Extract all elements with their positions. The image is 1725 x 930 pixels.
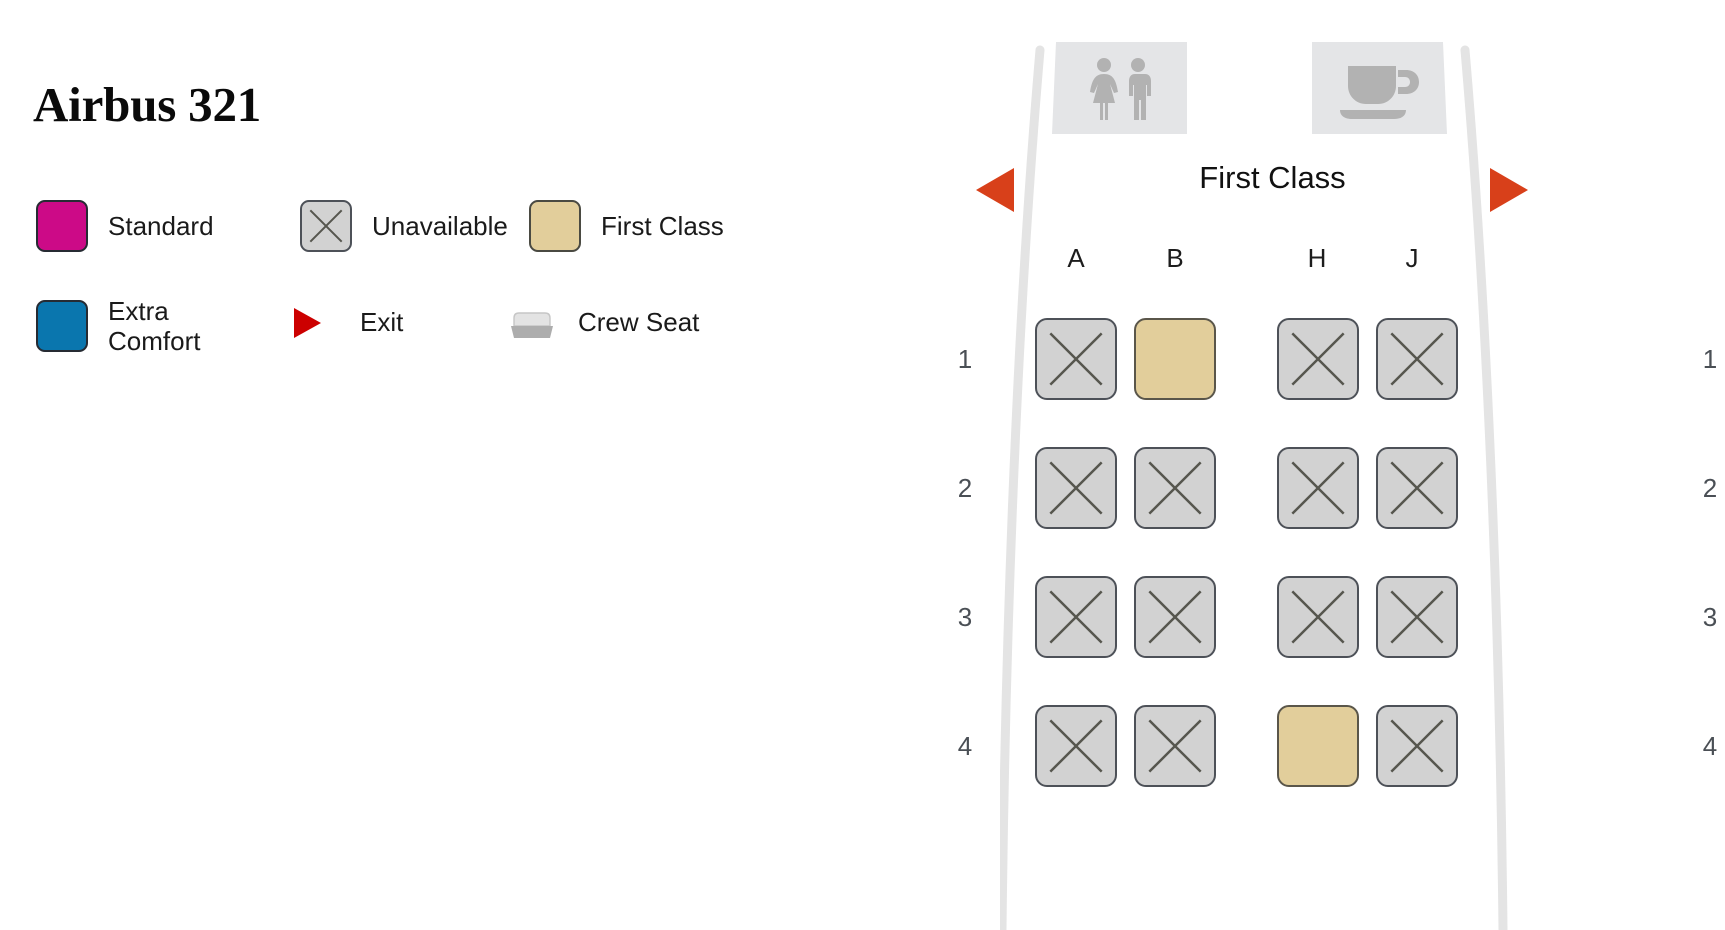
column-letter-b: B xyxy=(1155,243,1195,274)
seat-2H xyxy=(1277,447,1359,529)
row-number-right-3: 3 xyxy=(1690,602,1725,633)
x-cross-icon xyxy=(1378,449,1456,527)
column-letter-j: J xyxy=(1392,243,1432,274)
row-number-left-3: 3 xyxy=(945,602,985,633)
galley-cup-icon xyxy=(1312,42,1447,134)
seat-3H xyxy=(1277,576,1359,658)
cabin-section-title: First Class xyxy=(1000,160,1545,196)
x-cross-icon xyxy=(1279,578,1357,656)
legend-label: Extra Comfort xyxy=(108,296,200,357)
legend-label: Standard xyxy=(108,211,214,241)
galley-panel xyxy=(1312,42,1447,139)
x-cross-icon xyxy=(1378,578,1456,656)
seat-2B xyxy=(1134,447,1216,529)
x-cross-icon xyxy=(1279,449,1357,527)
legend-row: Standard Unavailable First Class xyxy=(36,200,776,276)
lavatory-panel xyxy=(1052,42,1187,139)
x-cross-icon xyxy=(1279,320,1357,398)
color-swatch-blue-icon xyxy=(36,300,88,352)
legend-label: First Class xyxy=(601,211,724,241)
crew-seat-glyph xyxy=(506,296,558,348)
seat-4A xyxy=(1035,705,1117,787)
row-number-left-1: 1 xyxy=(945,344,985,375)
legend-item-unavailable: Unavailable xyxy=(300,200,508,252)
x-cross-icon xyxy=(1136,578,1214,656)
x-cross-icon xyxy=(1136,707,1214,785)
x-cross-icon xyxy=(1037,578,1115,656)
seat-1B[interactable] xyxy=(1134,318,1216,400)
x-cross-icon xyxy=(1037,449,1115,527)
seat-4B xyxy=(1134,705,1216,787)
seat-1H xyxy=(1277,318,1359,400)
row-number-right-4: 4 xyxy=(1690,731,1725,762)
legend-item-standard: Standard xyxy=(36,200,214,252)
seat-4H[interactable] xyxy=(1277,705,1359,787)
column-letter-h: H xyxy=(1297,243,1337,274)
x-cross-icon xyxy=(302,202,350,250)
x-cross-icon xyxy=(1037,707,1115,785)
unavailable-seat-icon xyxy=(300,200,352,252)
legend-item-first-class: First Class xyxy=(529,200,724,252)
x-cross-icon xyxy=(1037,320,1115,398)
legend-label: Crew Seat xyxy=(578,307,699,337)
exit-arrow-icon xyxy=(288,296,340,348)
row-number-left-2: 2 xyxy=(945,473,985,504)
seat-1A xyxy=(1035,318,1117,400)
column-letters: A B H J xyxy=(1000,243,1545,279)
row-number-left-4: 4 xyxy=(945,731,985,762)
page-title: Airbus 321 xyxy=(33,80,261,129)
color-swatch-magenta-icon xyxy=(36,200,88,252)
x-cross-icon xyxy=(1378,707,1456,785)
row-number-right-2: 2 xyxy=(1690,473,1725,504)
seat-3B xyxy=(1134,576,1216,658)
seat-3J xyxy=(1376,576,1458,658)
cabin-diagram: First Class A B H J 1 2 3 4 1 2 3 4 xyxy=(1000,0,1725,930)
seat-2A xyxy=(1035,447,1117,529)
legend-item-crew-seat: Crew Seat xyxy=(506,296,699,348)
lavatory-icon xyxy=(1052,42,1187,134)
crew-seat-icon xyxy=(506,296,558,348)
x-cross-icon xyxy=(1136,449,1214,527)
legend-label: Unavailable xyxy=(372,211,508,241)
column-letter-a: A xyxy=(1056,243,1096,274)
x-cross-icon xyxy=(1378,320,1456,398)
legend-row: Extra Comfort Exit Crew Seat xyxy=(36,296,776,372)
seat-2J xyxy=(1376,447,1458,529)
legend-item-extra-comfort: Extra Comfort xyxy=(36,296,200,357)
row-number-right-1: 1 xyxy=(1690,344,1725,375)
seatmap-page: Airbus 321 Standard Unavailable First Cl… xyxy=(0,0,1725,930)
seat-1J xyxy=(1376,318,1458,400)
legend-label: Exit xyxy=(360,307,403,337)
color-swatch-tan-icon xyxy=(529,200,581,252)
seat-3A xyxy=(1035,576,1117,658)
legend-item-exit: Exit xyxy=(288,296,403,348)
seat-4J xyxy=(1376,705,1458,787)
